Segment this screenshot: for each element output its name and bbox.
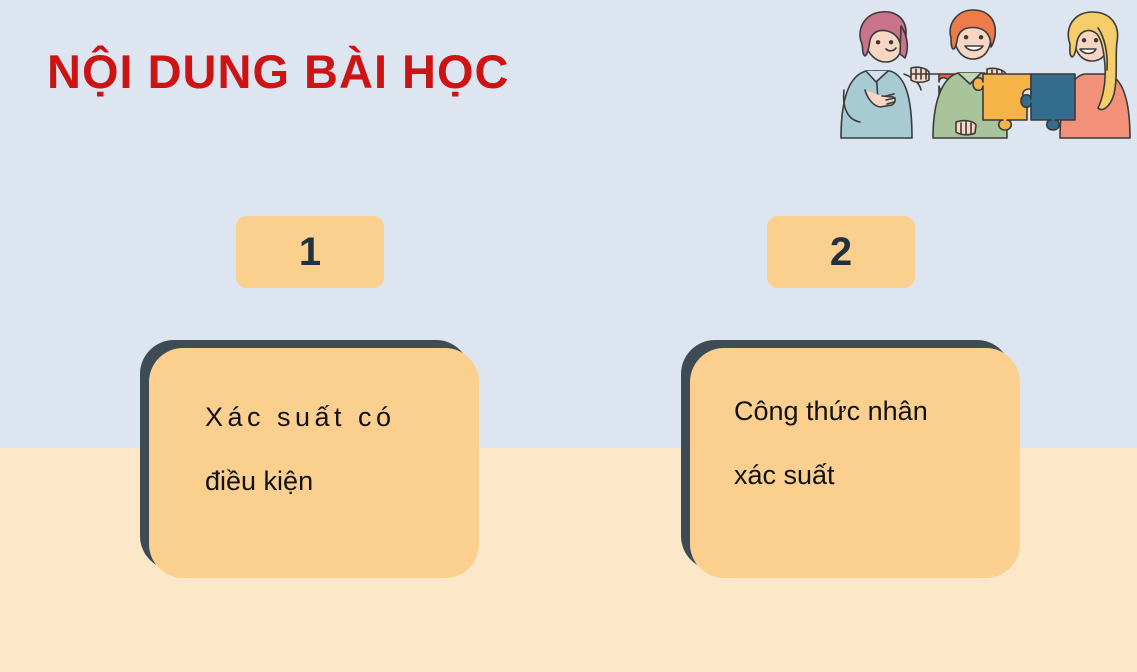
content-card-2-line-1: Công thức nhân <box>734 398 1020 425</box>
content-card-1-face[interactable]: Xác suất có điều kiện <box>149 348 479 578</box>
content-card-1-line-1: Xác suất có <box>205 404 479 431</box>
page-title: NỘI DUNG BÀI HỌC <box>47 46 510 98</box>
content-card-1-line-2: điều kiện <box>205 468 479 495</box>
step-badge-2[interactable]: 2 <box>767 216 915 288</box>
step-badge-2-number: 2 <box>830 232 852 272</box>
content-card-2-line-2: xác suất <box>734 462 1020 489</box>
step-badge-1-number: 1 <box>299 232 321 272</box>
content-card-2-face[interactable]: Công thức nhân xác suất <box>690 348 1020 578</box>
teamwork-puzzle-illustration <box>808 4 1134 144</box>
slide-canvas: NỘI DUNG BÀI HỌC <box>0 0 1137 672</box>
step-badge-1[interactable]: 1 <box>236 216 384 288</box>
